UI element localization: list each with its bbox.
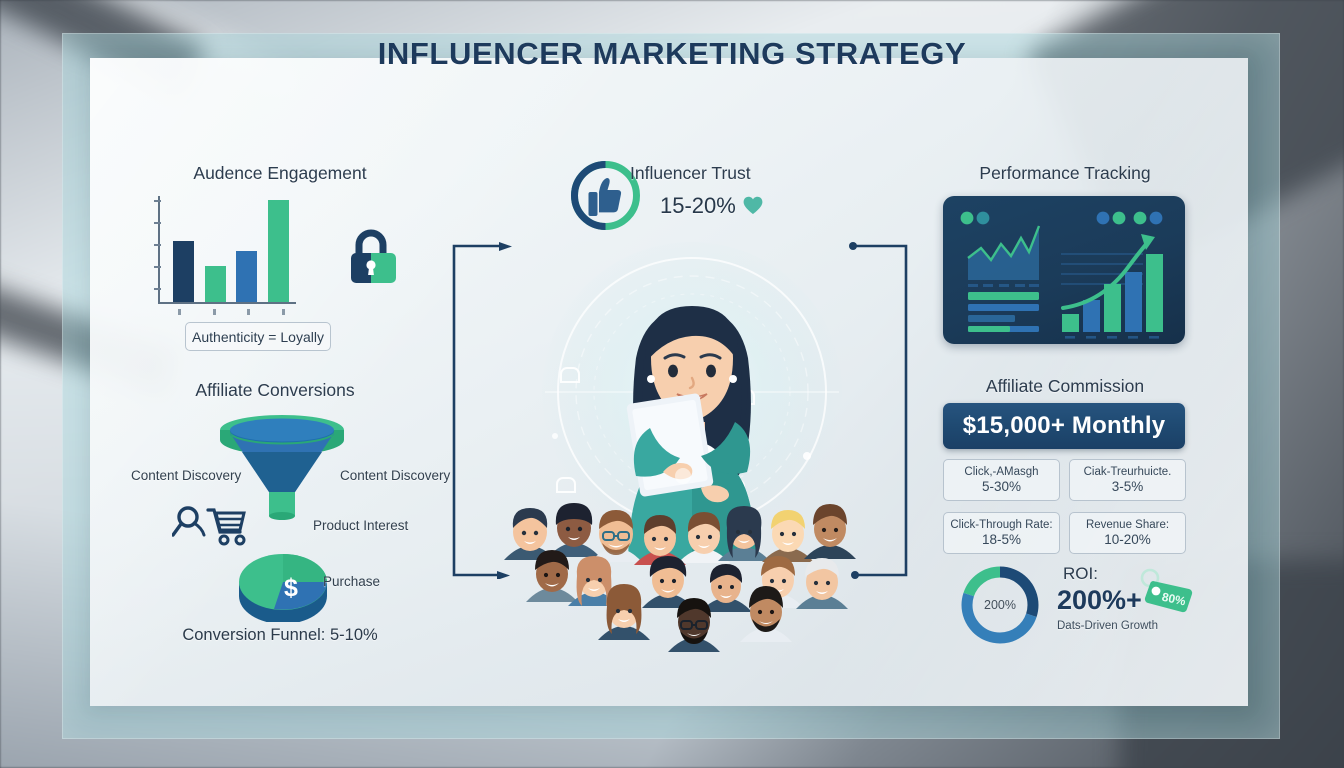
metric-box: Ciak-Treurhuicte. 3-5% xyxy=(1069,459,1186,501)
audience-engagement-title: Audence Engagement xyxy=(132,163,428,184)
infographic-canvas: INFLUENCER MARKETING STRATEGY Audence En… xyxy=(0,0,1344,768)
metric-label: Click-Through Rate: xyxy=(950,518,1052,532)
bar xyxy=(268,200,289,302)
roi-value: 200%+ xyxy=(1057,585,1142,616)
x-tick xyxy=(247,309,250,315)
search-cart-icon xyxy=(172,503,248,547)
audience-avatars xyxy=(490,498,880,660)
pie-chart-icon: $ xyxy=(234,536,332,622)
bar xyxy=(173,241,194,302)
metric-box: Click,-AMasgh 5-30% xyxy=(943,459,1060,501)
lock-icon xyxy=(346,228,396,286)
metric-value: 5-30% xyxy=(982,479,1021,495)
roi-label: ROI: xyxy=(1063,564,1098,584)
price-tag-icon: 80% xyxy=(1137,567,1195,615)
metric-label: Ciak-Treurhuicte. xyxy=(1084,465,1172,479)
funnel-stage-purchase: Purchase xyxy=(323,574,380,589)
influencer-trust-value: 15-20% xyxy=(660,193,736,219)
x-tick xyxy=(282,309,285,315)
audience-engagement-bar-chart xyxy=(158,196,296,304)
performance-tracking-title: Performance Tracking xyxy=(938,163,1192,184)
metric-box: Revenue Share: 10-20% xyxy=(1069,512,1186,554)
x-tick xyxy=(178,309,181,315)
metric-value: 18-5% xyxy=(982,532,1021,548)
metric-box: Click-Through Rate: 18-5% xyxy=(943,512,1060,554)
funnel-stage-content-discovery-right: Content Discovery xyxy=(340,468,450,483)
conversion-funnel-caption: Conversion Funnel: 5-10% xyxy=(110,626,450,645)
bar xyxy=(236,251,257,302)
x-tick xyxy=(213,309,216,315)
y-tick xyxy=(154,288,161,290)
metric-value: 3-5% xyxy=(1112,479,1144,495)
x-axis xyxy=(158,302,296,304)
x-tick-group xyxy=(158,309,296,315)
roi-subtitle: Dats-Driven Growth xyxy=(1057,620,1158,632)
y-tick xyxy=(154,200,161,202)
page-title: INFLUENCER MARKETING STRATEGY xyxy=(0,36,1344,72)
y-tick xyxy=(154,266,161,268)
affiliate-commission-title: Affiliate Commission xyxy=(938,376,1192,397)
commission-banner: $15,000+ Monthly xyxy=(943,403,1185,449)
metric-label: Revenue Share: xyxy=(1086,518,1169,532)
bar xyxy=(205,266,226,302)
svg-text:$: $ xyxy=(284,574,298,602)
authenticity-label: Authenticity = Loyally xyxy=(185,322,331,351)
bar-group xyxy=(168,196,294,302)
funnel-stage-product-interest: Product Interest xyxy=(313,518,408,533)
influencer-trust-title: Influencer Trust xyxy=(630,163,790,184)
affiliate-conversions-title: Affiliate Conversions xyxy=(128,380,422,401)
metric-label: Click,-AMasgh xyxy=(964,465,1038,479)
roi-donut-chart: 200% xyxy=(957,562,1043,648)
roi-donut-center-label: 200% xyxy=(957,562,1043,648)
metric-value: 10-20% xyxy=(1104,532,1151,548)
analytics-dashboard-icon xyxy=(943,196,1185,344)
heart-icon xyxy=(743,196,763,215)
y-tick xyxy=(154,244,161,246)
funnel-stage-content-discovery-left: Content Discovery xyxy=(131,468,241,483)
y-tick xyxy=(154,222,161,224)
